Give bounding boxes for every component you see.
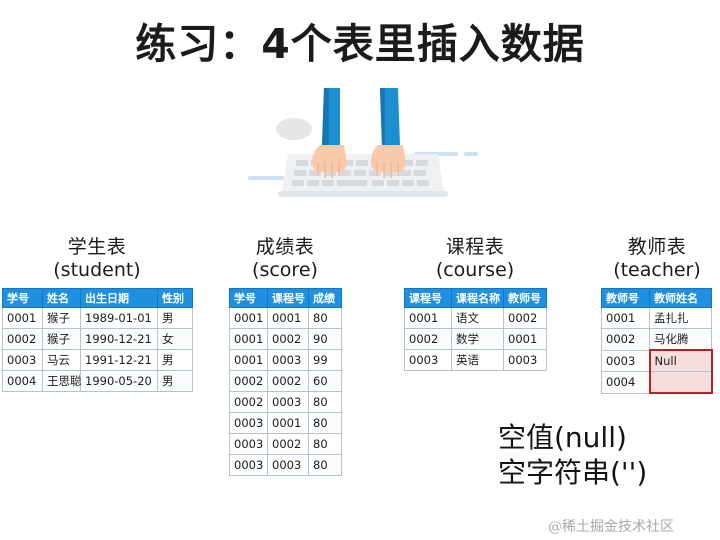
right-hand	[371, 145, 406, 172]
cell: 80	[309, 392, 342, 413]
typing-illustration	[248, 88, 478, 208]
col-header-xuehao: 学号	[230, 289, 268, 308]
table-row: 0001 0003 99	[230, 350, 342, 371]
cell: 0001	[3, 308, 43, 329]
cell: 80	[309, 413, 342, 434]
table-row: 0003 0002 80	[230, 434, 342, 455]
cell: 0003	[602, 350, 650, 372]
cell: 马云	[43, 350, 81, 371]
col-header-chushengriqi: 出生日期	[81, 289, 158, 308]
cell: 男	[158, 350, 193, 371]
table-row: 0002 数学 0001	[405, 329, 547, 350]
cell: 猴子	[43, 329, 81, 350]
table-caption-student: 学生表 (student)	[2, 236, 192, 282]
cell: 0001	[268, 413, 309, 434]
col-header-xingming: 姓名	[43, 289, 81, 308]
cell: 0002	[602, 329, 650, 351]
table-block-student: 学生表 (student) 学号 姓名 出生日期 性别 0001 猴子 1989…	[2, 236, 192, 392]
watermark: @稀土掘金技术社区	[548, 516, 674, 536]
col-header-kechenghao: 课程号	[405, 289, 452, 308]
deco-line-left	[248, 176, 284, 180]
col-header-jiaoshihao: 教师号	[504, 289, 547, 308]
table-row: 0001 0001 80	[230, 308, 342, 329]
cell: 0002	[230, 392, 268, 413]
deco-line-right-2	[464, 152, 478, 156]
table-row: 0004 王思聪 1990-05-20 男	[3, 371, 193, 392]
cell: 男	[158, 371, 193, 392]
table-block-score: 成绩表 (score) 学号 课程号 成绩 0001 0001 80 0001	[229, 236, 341, 476]
cell: 60	[309, 371, 342, 392]
cell: 0002	[230, 371, 268, 392]
table-caption-course: 课程表 (course)	[404, 236, 546, 282]
cell: 0003	[230, 413, 268, 434]
cell: 90	[309, 329, 342, 350]
cell: 0003	[268, 392, 309, 413]
table-header-row: 学号 姓名 出生日期 性别	[3, 289, 193, 308]
course-table: 课程号 课程名称 教师号 0001 语文 0002 0002 数学 0001 0…	[404, 288, 547, 371]
cell: 0001	[230, 350, 268, 371]
table-row: 0001 语文 0002	[405, 308, 547, 329]
col-header-chengji: 成绩	[309, 289, 342, 308]
cell: 80	[309, 455, 342, 476]
note-empty-string: 空字符串('')	[498, 455, 716, 490]
table-block-teacher: 教师表 (teacher) 教师号 教师姓名 0001 孟扎扎 0002 马化腾	[601, 236, 713, 394]
cell: 女	[158, 329, 193, 350]
cell: 语文	[452, 308, 504, 329]
cell: 1990-05-20	[81, 371, 158, 392]
page-title: 练习：4个表里插入数据	[0, 10, 720, 70]
cell: 1990-12-21	[81, 329, 158, 350]
table-row: 0003 马云 1991-12-21 男	[3, 350, 193, 371]
col-header-xingbie: 性别	[158, 289, 193, 308]
cell: 0002	[3, 329, 43, 350]
score-table: 学号 课程号 成绩 0001 0001 80 0001 0002 90 0001	[229, 288, 342, 476]
cell: 0003	[230, 434, 268, 455]
cell: 1991-12-21	[81, 350, 158, 371]
col-header-jiaoshixingming: 教师姓名	[650, 289, 712, 308]
left-hand	[312, 145, 347, 172]
cell: 0003	[268, 455, 309, 476]
cell: 1989-01-01	[81, 308, 158, 329]
cell: 0001	[230, 308, 268, 329]
cell: 0003	[504, 350, 547, 371]
table-caption-score: 成绩表 (score)	[229, 236, 341, 282]
cell: 猴子	[43, 308, 81, 329]
col-header-kechengmingcheng: 课程名称	[452, 289, 504, 308]
student-table: 学号 姓名 出生日期 性别 0001 猴子 1989-01-01 男 0002 …	[2, 288, 193, 392]
col-header-xuehao: 学号	[3, 289, 43, 308]
cell: 0003	[3, 350, 43, 371]
table-caption-teacher: 教师表 (teacher)	[601, 236, 713, 282]
table-row: 0003 英语 0003	[405, 350, 547, 371]
cell-empty-string	[650, 372, 712, 394]
table-row: 0004	[602, 372, 712, 394]
cell: 英语	[452, 350, 504, 371]
cell: 数学	[452, 329, 504, 350]
cell: 王思聪	[43, 371, 81, 392]
left-arm-shade	[322, 88, 329, 146]
cell: 0001	[602, 308, 650, 329]
right-arm-shade	[380, 88, 385, 146]
col-header-kechenghao: 课程号	[268, 289, 309, 308]
table-row: 0002 猴子 1990-12-21 女	[3, 329, 193, 350]
slide-canvas: 练习：4个表里插入数据	[0, 0, 720, 540]
cell: 孟扎扎	[650, 308, 712, 329]
table-row: 0002 0003 80	[230, 392, 342, 413]
deco-blob	[276, 118, 312, 140]
laptop-bottom-edge	[278, 191, 448, 197]
table-row: 0003 0003 80	[230, 455, 342, 476]
table-row: 0003 Null	[602, 350, 712, 372]
cell: 80	[309, 434, 342, 455]
cell: 0001	[230, 329, 268, 350]
table-header-row: 学号 课程号 成绩	[230, 289, 342, 308]
cell: 99	[309, 350, 342, 371]
cell: 0003	[268, 350, 309, 371]
table-header-row: 课程号 课程名称 教师号	[405, 289, 547, 308]
cell: 0001	[504, 329, 547, 350]
cell: 80	[309, 308, 342, 329]
null-notes: 空值(null) 空字符串('')	[498, 420, 716, 490]
teacher-table: 教师号 教师姓名 0001 孟扎扎 0002 马化腾 0003 Null	[601, 288, 713, 394]
table-header-row: 教师号 教师姓名	[602, 289, 712, 308]
cell: 0002	[268, 329, 309, 350]
table-row: 0002 马化腾	[602, 329, 712, 351]
note-null: 空值(null)	[498, 420, 716, 455]
cell: 0004	[3, 371, 43, 392]
cell: 0002	[405, 329, 452, 350]
cell: 0004	[602, 372, 650, 394]
cell: 0001	[405, 308, 452, 329]
table-block-course: 课程表 (course) 课程号 课程名称 教师号 0001 语文 0002 0…	[404, 236, 546, 371]
table-row: 0002 0002 60	[230, 371, 342, 392]
cell-null-value: Null	[650, 350, 712, 372]
cell: 0003	[230, 455, 268, 476]
table-row: 0001 0002 90	[230, 329, 342, 350]
table-row: 0003 0001 80	[230, 413, 342, 434]
cell: 0003	[405, 350, 452, 371]
table-row: 0001 孟扎扎	[602, 308, 712, 329]
table-row: 0001 猴子 1989-01-01 男	[3, 308, 193, 329]
cell: 0002	[504, 308, 547, 329]
cell: 0002	[268, 434, 309, 455]
cell: 男	[158, 308, 193, 329]
cell: 0002	[268, 371, 309, 392]
cell: 马化腾	[650, 329, 712, 351]
cell: 0001	[268, 308, 309, 329]
col-header-jiaoshihao: 教师号	[602, 289, 650, 308]
